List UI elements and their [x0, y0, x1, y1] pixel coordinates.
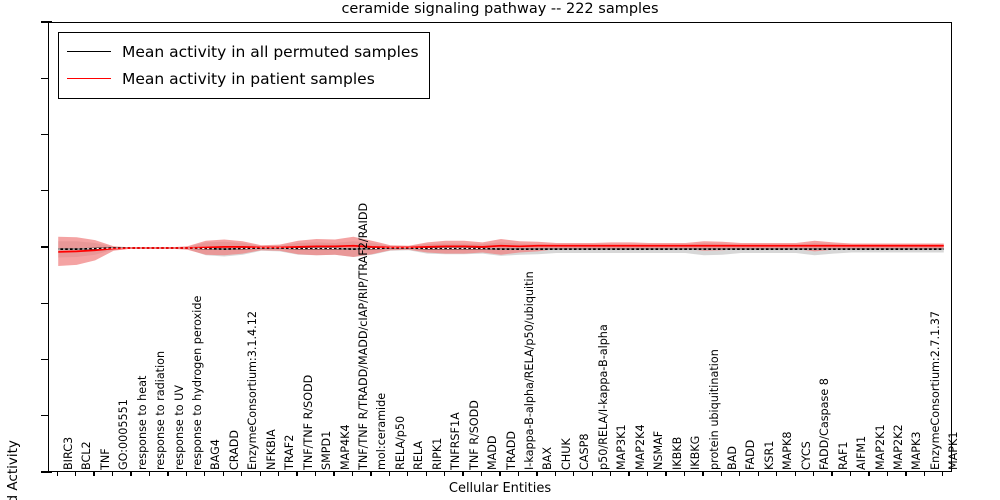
- x-axis-tick-label: protein ubiquitination: [708, 349, 721, 470]
- x-axis-tick-mark: [426, 472, 427, 476]
- x-axis-tick-mark: [555, 472, 556, 476]
- x-axis-tick-label: TNFRSF1A: [449, 412, 462, 470]
- x-axis-tick-mark: [481, 472, 482, 476]
- x-axis-tick-label: TNF R/SODD: [468, 400, 481, 470]
- x-axis-tick-label: response to radiation: [154, 351, 167, 470]
- x-axis-tick-label: GO:0005551: [117, 399, 130, 470]
- y-axis-label: Inferred Activity: [5, 440, 21, 500]
- x-axis-tick-label: mol:ceramide: [375, 393, 388, 470]
- x-axis-tick-label: BIRC3: [62, 437, 75, 470]
- x-axis-tick-mark: [407, 472, 408, 476]
- x-axis-tick-label: SMPD1: [320, 431, 333, 470]
- x-axis-tick-mark: [278, 472, 279, 476]
- y-axis-tick-mark: [41, 246, 48, 247]
- legend-item-patient: Mean activity in patient samples: [67, 65, 419, 92]
- x-axis-tick-label: response to UV: [173, 385, 186, 470]
- y-axis-tick-mark: [41, 21, 48, 22]
- x-axis-tick-mark: [518, 472, 519, 476]
- x-axis-tick-label: response to hydrogen peroxide: [191, 296, 204, 470]
- x-axis-tick-label: AIFM1: [855, 436, 868, 470]
- x-axis-tick-label: RELA: [412, 441, 425, 470]
- x-axis-tick-mark: [186, 472, 187, 476]
- x-axis-tick-label: TRAF2: [283, 435, 296, 470]
- x-axis-tick-label: MAP2K1: [874, 424, 887, 470]
- x-axis-tick-label: CYCS: [800, 441, 813, 470]
- x-axis-tick-label: MADD: [486, 435, 499, 470]
- x-axis-tick-label: FADD/Caspase 8: [818, 378, 831, 470]
- x-axis-tick-mark: [813, 472, 814, 476]
- x-axis-tick-label: TNF: [99, 448, 112, 470]
- x-axis-tick-mark: [352, 472, 353, 476]
- legend-item-permuted: Mean activity in all permuted samples: [67, 38, 419, 65]
- x-axis-tick-mark: [868, 472, 869, 476]
- x-axis-tick-mark: [444, 472, 445, 476]
- x-axis-tick-mark: [75, 472, 76, 476]
- x-axis-tick-label: BAD: [726, 446, 739, 470]
- x-axis-tick-label: FADD: [744, 440, 757, 470]
- figure: ceramide signaling pathway -- 222 sample…: [0, 0, 1000, 500]
- x-axis-tick-mark: [260, 472, 261, 476]
- x-axis-tick-mark: [241, 472, 242, 476]
- x-axis-tick-mark: [389, 472, 390, 476]
- x-axis-tick-label: RELA/p50: [394, 416, 407, 470]
- x-axis-tick-mark: [647, 472, 648, 476]
- y-axis-tick-mark: [41, 359, 48, 360]
- x-axis-tick-label: CASP8: [578, 434, 591, 470]
- x-axis-tick-label: BAX: [541, 447, 554, 470]
- y-axis-tick-mark: [41, 190, 48, 191]
- x-axis-tick-label: RAF1: [837, 441, 850, 470]
- x-axis-tick-mark: [149, 472, 150, 476]
- x-axis-tick-mark: [924, 472, 925, 476]
- x-axis-tick-mark: [592, 472, 593, 476]
- x-axis-tick-mark: [795, 472, 796, 476]
- x-axis-tick-label: TNF/TNF R/SODD: [302, 375, 315, 470]
- x-axis-tick-mark: [333, 472, 334, 476]
- x-axis-tick-label: NFKBIA: [265, 429, 278, 470]
- x-axis-tick-mark: [684, 472, 685, 476]
- x-axis-tick-label: KSR1: [763, 441, 776, 470]
- x-axis-tick-label: BAG4: [209, 439, 222, 470]
- x-axis-tick-mark: [887, 472, 888, 476]
- x-axis-tick-mark: [370, 472, 371, 476]
- x-axis-tick-mark: [499, 472, 500, 476]
- x-axis-tick-mark: [739, 472, 740, 476]
- x-axis-tick-label: CRADD: [228, 430, 241, 470]
- x-axis-tick-label: MAP4K4: [339, 424, 352, 470]
- y-axis-tick-mark: [41, 134, 48, 135]
- chart-title: ceramide signaling pathway -- 222 sample…: [48, 1, 952, 17]
- x-axis-tick-mark: [57, 472, 58, 476]
- legend-label-permuted: Mean activity in all permuted samples: [122, 43, 419, 61]
- x-axis-tick-mark: [462, 472, 463, 476]
- x-axis-tick-label: response to heat: [136, 376, 149, 470]
- x-axis-tick-mark: [628, 472, 629, 476]
- x-axis-tick-mark: [905, 472, 906, 476]
- x-axis-tick-mark: [758, 472, 759, 476]
- x-axis-tick-mark: [665, 472, 666, 476]
- x-axis-tick-mark: [721, 472, 722, 476]
- x-axis-tick-label: TRADD: [505, 431, 518, 470]
- x-axis-tick-label: EnzymeConsortium:2.7.1.37: [929, 311, 942, 470]
- x-axis-tick-label: I-kappa-B-alpha/RELA/p50/ubiquitin: [523, 271, 536, 470]
- x-axis-tick-mark: [536, 472, 537, 476]
- x-axis-tick-mark: [112, 472, 113, 476]
- x-axis-tick-label: MAP2K2: [892, 424, 905, 470]
- x-axis-tick-mark: [223, 472, 224, 476]
- legend-swatch-black: [67, 51, 111, 52]
- legend: Mean activity in all permuted samples Me…: [58, 32, 430, 99]
- x-axis-tick-label: CHUK: [560, 438, 573, 470]
- x-axis-tick-label: MAP3K1: [615, 424, 628, 470]
- y-axis-tick-mark: [41, 471, 48, 472]
- x-axis-tick-mark: [130, 472, 131, 476]
- x-axis-tick-label: MAPK8: [781, 431, 794, 470]
- x-axis-tick-label: BCL2: [80, 441, 93, 470]
- x-axis-tick-label: p50/RELA/I-kappa-B-alpha: [597, 324, 610, 470]
- x-axis-tick-mark: [167, 472, 168, 476]
- x-axis-tick-label: RIPK1: [431, 438, 444, 470]
- y-axis-tick-mark: [41, 415, 48, 416]
- y-axis-tick-mark: [41, 78, 48, 79]
- x-axis-tick-mark: [850, 472, 851, 476]
- x-axis-tick-label: TNF/TNF R/TRADD/MADD/cIAP/RIP/TRAF2/RAID…: [357, 203, 370, 470]
- x-axis-tick-mark: [315, 472, 316, 476]
- x-axis-tick-mark: [204, 472, 205, 476]
- x-axis-tick-mark: [93, 472, 94, 476]
- x-axis-tick-label: NSMAF: [652, 431, 665, 470]
- x-axis-tick-label: IKBKG: [689, 436, 702, 470]
- x-axis-tick-mark: [702, 472, 703, 476]
- x-axis-tick-label: EnzymeConsortium:3.1.4.12: [246, 311, 259, 470]
- y-axis-tick-mark: [41, 303, 48, 304]
- x-axis-tick-label: MAPK1: [947, 431, 960, 470]
- x-axis-tick-label: IKBKB: [671, 437, 684, 470]
- x-axis-tick-label: MAPK3: [910, 431, 923, 470]
- x-axis-label: Cellular Entities: [48, 481, 952, 496]
- x-axis-tick-mark: [831, 472, 832, 476]
- x-axis-tick-mark: [296, 472, 297, 476]
- legend-label-patient: Mean activity in patient samples: [122, 70, 375, 88]
- legend-swatch-red: [67, 78, 111, 79]
- x-axis-tick-mark: [776, 472, 777, 476]
- x-axis-tick-label: MAP2K4: [634, 424, 647, 470]
- x-axis-tick-mark: [610, 472, 611, 476]
- x-axis-tick-mark: [573, 472, 574, 476]
- x-axis-tick-mark: [942, 472, 943, 476]
